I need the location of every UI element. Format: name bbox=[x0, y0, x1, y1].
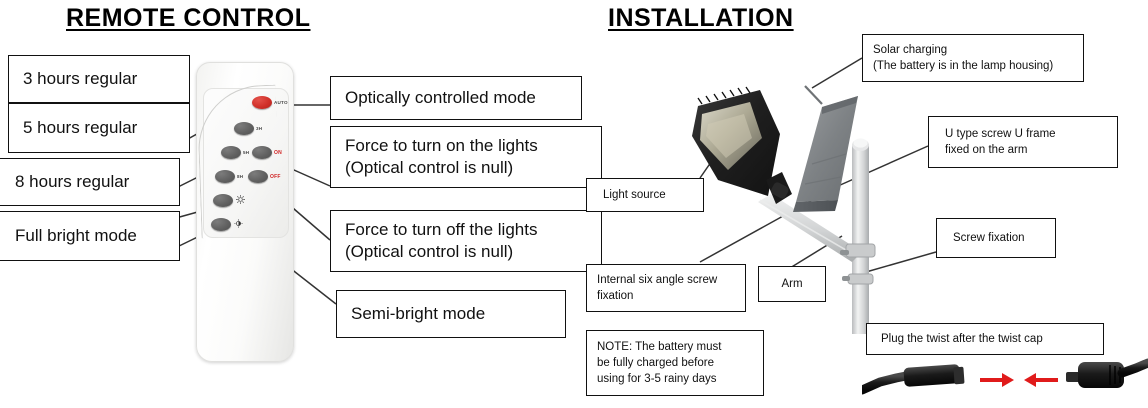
cable-connector-illustration bbox=[862, 356, 1148, 408]
label-arm-text: Arm bbox=[759, 276, 825, 292]
remote-button-semi-bright[interactable] bbox=[211, 218, 231, 231]
label-solar-charging: Solar charging (The battery is in the la… bbox=[862, 34, 1084, 82]
remote-button-off-label: OFF bbox=[270, 174, 281, 180]
label-3-hours-regular: 3 hours regular bbox=[8, 55, 190, 103]
label-plug-twist: Plug the twist after the twist cap bbox=[866, 323, 1104, 355]
label-optically-controlled-mode-text: Optically controlled mode bbox=[331, 87, 581, 109]
label-semi-bright-mode: Semi-bright mode bbox=[336, 290, 566, 338]
remote-button-auto[interactable] bbox=[252, 96, 272, 109]
label-solar-charging-text: Solar charging (The battery is in the la… bbox=[863, 42, 1083, 75]
arrow-right-icon bbox=[980, 373, 1014, 387]
label-8-hours-regular: 8 hours regular bbox=[0, 158, 180, 206]
label-note-battery: NOTE: The battery must be fully charged … bbox=[586, 330, 764, 396]
remote-button-8h-label: 8H bbox=[237, 174, 243, 179]
remote-button-8h[interactable] bbox=[215, 170, 235, 183]
label-force-turn-off: Force to turn off the lights (Optical co… bbox=[330, 210, 602, 272]
label-light-source: Light source bbox=[586, 178, 704, 212]
label-5-hours-regular: 5 hours regular bbox=[8, 103, 190, 153]
half-moon-icon bbox=[234, 219, 243, 228]
diagram-page: REMOTE CONTROL INSTALLATION 3 hours regu… bbox=[0, 0, 1148, 408]
remote-button-5h-label: 5H bbox=[243, 150, 249, 155]
remote-button-5h[interactable] bbox=[221, 146, 241, 159]
label-5-hours-regular-text: 5 hours regular bbox=[9, 117, 189, 139]
remote-control-device: AUTO 3H 5H ON 8H OFF bbox=[196, 62, 294, 362]
remote-button-3h[interactable] bbox=[234, 122, 254, 135]
remote-button-3h-label: 3H bbox=[256, 126, 262, 131]
label-optically-controlled-mode: Optically controlled mode bbox=[330, 76, 582, 120]
lamp-pole bbox=[852, 138, 869, 334]
label-force-turn-on: Force to turn on the lights (Optical con… bbox=[330, 126, 602, 188]
label-force-turn-off-text: Force to turn off the lights (Optical co… bbox=[331, 219, 601, 263]
female-connector bbox=[862, 364, 965, 390]
solar-panel bbox=[793, 86, 858, 212]
arrow-left-icon bbox=[1024, 373, 1058, 387]
male-connector bbox=[1066, 362, 1148, 388]
label-full-bright-mode-text: Full bright mode bbox=[0, 225, 179, 247]
label-u-type-screw-text: U type screw U frame fixed on the arm bbox=[929, 126, 1117, 159]
label-arm: Arm bbox=[758, 266, 826, 302]
label-plug-twist-text: Plug the twist after the twist cap bbox=[867, 331, 1103, 347]
remote-control-title: REMOTE CONTROL bbox=[66, 4, 311, 33]
label-light-source-text: Light source bbox=[587, 187, 703, 203]
installation-title: INSTALLATION bbox=[608, 4, 794, 33]
label-note-battery-text: NOTE: The battery must be fully charged … bbox=[587, 339, 763, 388]
remote-button-full-bright[interactable] bbox=[213, 194, 233, 207]
label-force-turn-on-text: Force to turn on the lights (Optical con… bbox=[331, 135, 601, 179]
remote-button-on[interactable] bbox=[252, 146, 272, 159]
label-u-type-screw: U type screw U frame fixed on the arm bbox=[928, 116, 1118, 168]
remote-button-on-label: ON bbox=[274, 150, 282, 156]
sun-icon bbox=[236, 195, 245, 204]
label-internal-six-angle-screw-text: Internal six angle screw fixation bbox=[587, 272, 745, 305]
label-8-hours-regular-text: 8 hours regular bbox=[0, 171, 179, 193]
label-semi-bright-mode-text: Semi-bright mode bbox=[337, 303, 565, 325]
label-3-hours-regular-text: 3 hours regular bbox=[9, 68, 189, 90]
led-lamp-head bbox=[692, 87, 792, 204]
label-full-bright-mode: Full bright mode bbox=[0, 211, 180, 261]
label-screw-fixation: Screw fixation bbox=[936, 218, 1056, 258]
remote-button-off[interactable] bbox=[248, 170, 268, 183]
label-screw-fixation-text: Screw fixation bbox=[937, 230, 1055, 246]
label-internal-six-angle-screw: Internal six angle screw fixation bbox=[586, 264, 746, 312]
remote-button-auto-label: AUTO bbox=[274, 100, 288, 105]
